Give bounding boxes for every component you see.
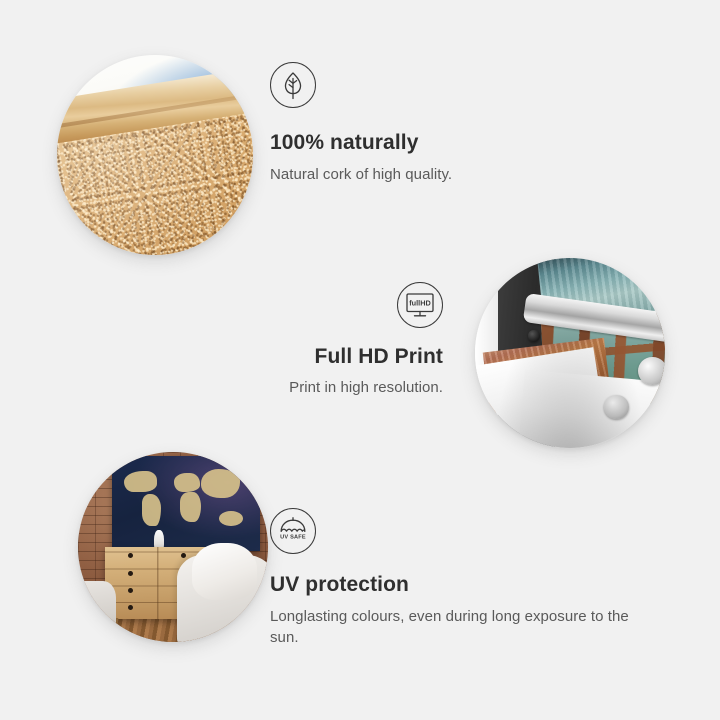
map-continent — [219, 511, 243, 526]
feature-description: Natural cork of high quality. — [270, 164, 600, 185]
svg-text:UV SAFE: UV SAFE — [280, 535, 306, 541]
cushion — [192, 543, 257, 600]
world-map-canvas — [112, 456, 260, 551]
feature-title: UV protection — [270, 572, 642, 597]
leaf-icon — [270, 62, 316, 108]
fullhd-monitor-icon: fullHD — [397, 282, 443, 328]
feature-title: 100% naturally — [270, 130, 600, 155]
dresser-knob — [128, 571, 133, 576]
cork-photo-inner — [57, 55, 253, 255]
large-format-printer-photo — [475, 258, 665, 448]
dresser-knob — [128, 588, 133, 593]
living-room-world-map-photo — [78, 452, 268, 642]
feature-description: Longlasting colours, even during long ex… — [270, 606, 642, 649]
map-continent — [124, 471, 157, 492]
cork-board-closeup-photo — [57, 55, 253, 255]
map-continent — [180, 492, 201, 522]
feature-block-fullhd: fullHD Full HD Print Print in high resol… — [120, 282, 443, 398]
map-continent — [201, 469, 240, 498]
dresser-knob — [128, 553, 133, 558]
feature-block-natural: 100% naturally Natural cork of high qual… — [270, 62, 600, 185]
dresser-knob — [181, 553, 186, 558]
feature-title: Full HD Print — [120, 344, 443, 369]
uv-umbrella-icon: UV SAFE — [270, 508, 316, 554]
feature-block-uv: UV SAFE UV protection Longlasting colour… — [270, 508, 642, 649]
map-continent — [174, 473, 199, 492]
svg-text:fullHD: fullHD — [409, 298, 430, 307]
printer-photo-inner — [475, 258, 665, 448]
dresser-knob — [128, 605, 133, 610]
room-photo-inner — [78, 452, 268, 642]
armchair-left — [78, 581, 116, 642]
infographic-canvas: 100% naturally Natural cork of high qual… — [0, 0, 720, 720]
printer-photo-vignette — [475, 258, 665, 448]
map-continent — [142, 494, 161, 526]
feature-description: Print in high resolution. — [120, 377, 443, 398]
